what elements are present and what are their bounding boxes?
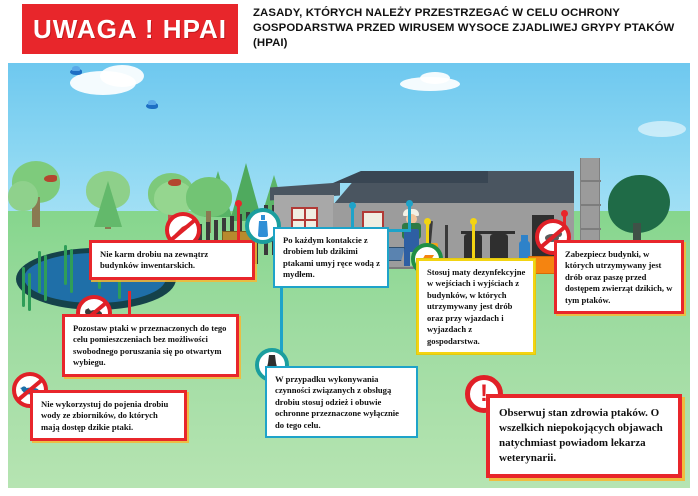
callout-observe-health: Obserwuj stan zdrowia ptaków. O wszelkic… (486, 394, 682, 478)
banner-title: UWAGA ! HPAI (33, 14, 227, 45)
callout-wash-hands: Po każdym kontakcie z drobiem lub dzikim… (273, 227, 389, 288)
callout-no-outdoor-feeding: Nie karm drobiu na zewnątrz budynków inw… (89, 240, 255, 280)
callout-disinfection-mats: Stosuj maty dezynfekcyjne w wejściach i … (417, 259, 535, 354)
callout-keep-birds-indoors: Pozostaw ptaki w przeznaczonych do tego … (62, 314, 239, 377)
callout-text: Po każdym kontakcie z drobiem lub dzikim… (283, 235, 380, 279)
reed (70, 249, 73, 293)
page-header: UWAGA ! HPAI ZASADY, KTÓRYCH NALEŻY PRZE… (0, 0, 698, 63)
reed (28, 273, 31, 311)
callout-text: Nie karm drobiu na zewnątrz budynków inw… (100, 249, 208, 270)
broom-handle (445, 225, 448, 263)
connector-dot (235, 200, 242, 207)
alert-banner: UWAGA ! HPAI (22, 4, 238, 54)
callout-text: Nie wykorzystuj do pojenia drobiu wody z… (41, 399, 168, 432)
connector-dot (406, 200, 413, 207)
callout-text: Zabezpiecz budynki, w których utrzymywan… (565, 249, 672, 305)
callout-no-pond-water: Nie wykorzystuj do pojenia drobiu wody z… (30, 390, 187, 441)
reed (64, 245, 67, 285)
callout-secure-buildings: Zabezpiecz budynki, w których utrzymywan… (554, 240, 684, 314)
callout-text: Stosuj maty dezynfekcyjne w wejściach i … (427, 267, 525, 346)
wild-bird-blue (146, 103, 158, 109)
callout-text: Obserwuj stan zdrowia ptaków. O wszelkic… (499, 407, 663, 464)
connector-line (237, 203, 240, 243)
reed (38, 251, 41, 293)
connector-dot (470, 218, 477, 225)
wild-bird-blue (70, 69, 82, 75)
page-subtitle: ZASADY, KTÓRYCH NALEŻY PRZESTRZEGAĆ W CE… (253, 6, 683, 51)
tree-crown (8, 181, 38, 211)
connector-line (408, 203, 411, 231)
farm-illustration: Nie karm drobiu na zewnątrz budynków inw… (8, 63, 690, 488)
cloud (638, 121, 686, 137)
connector-dot (349, 202, 356, 209)
callout-protective-clothing: W przypadku wykonywania czynności związa… (265, 366, 418, 438)
wild-bird-red (168, 179, 181, 186)
conifer-tree (94, 181, 122, 227)
reed (22, 267, 25, 307)
connector-dot (561, 210, 568, 217)
cloud (420, 72, 450, 84)
cloud (100, 65, 144, 87)
wild-bird-red (44, 175, 57, 182)
reed (44, 255, 47, 301)
connector-dot (424, 218, 431, 225)
callout-text: W przypadku wykonywania czynności związa… (275, 374, 399, 430)
callout-text: Pozostaw ptaki w przeznaczonych do tego … (73, 323, 226, 367)
